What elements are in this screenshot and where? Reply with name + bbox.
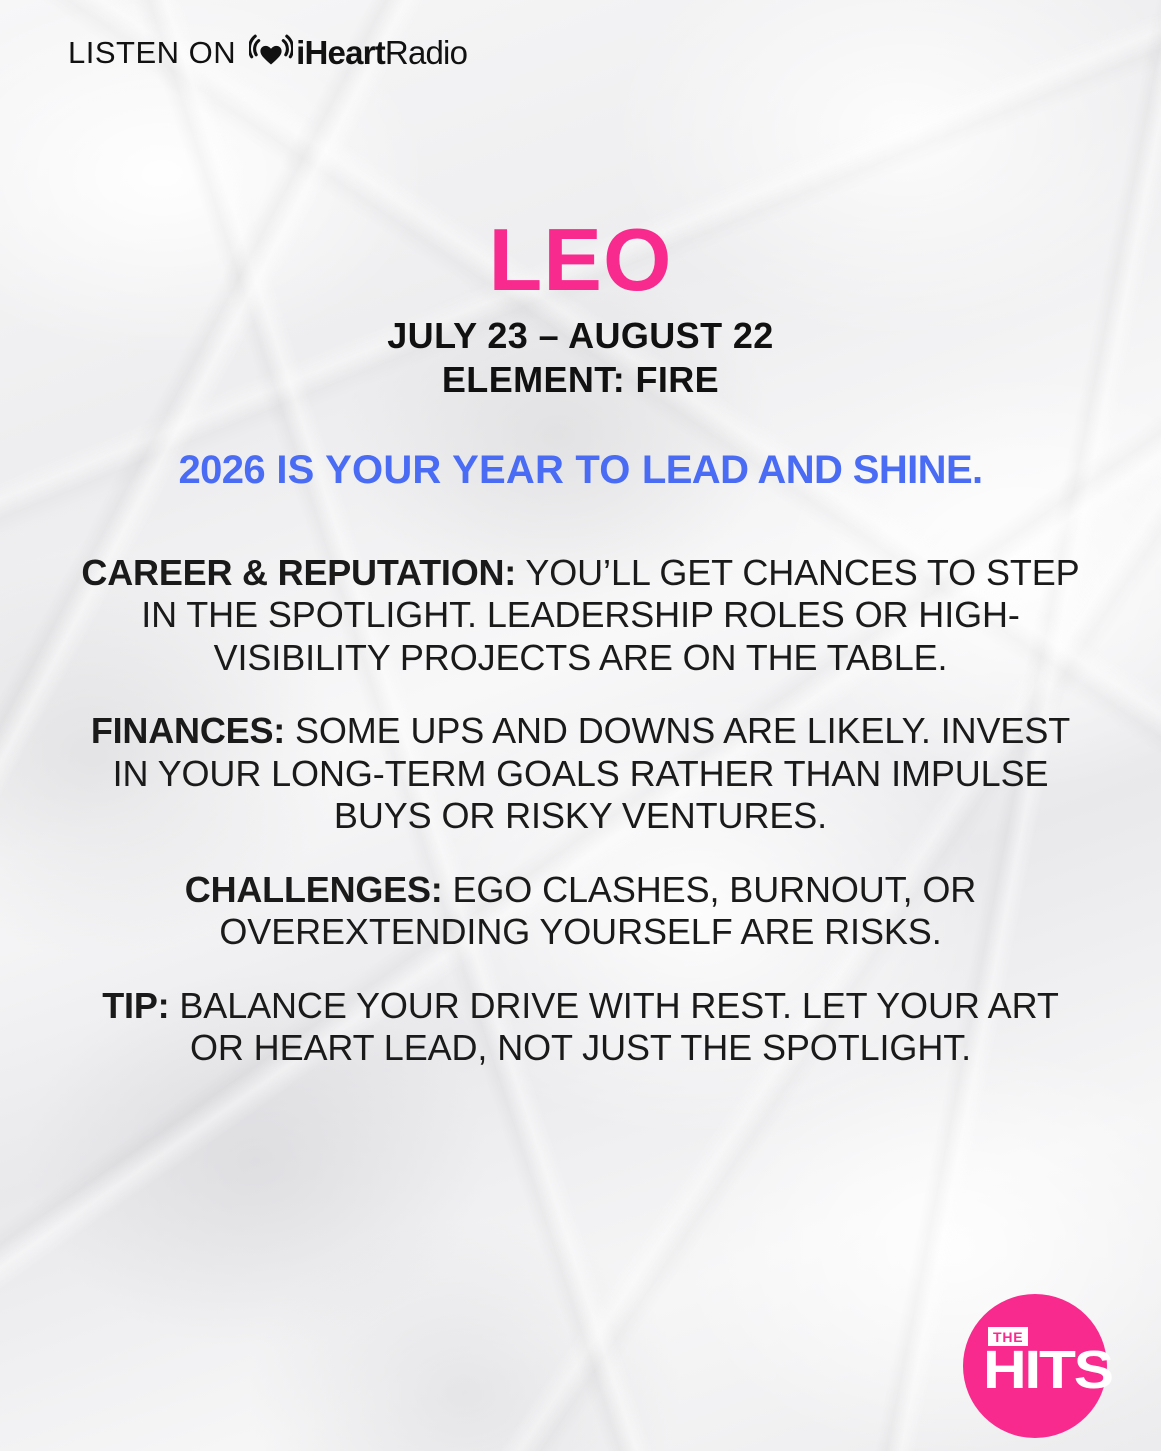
section-tip-body: BALANCE YOUR DRIVE WITH REST. LET YOUR A… (169, 985, 1058, 1068)
tagline-middle: IS YOUR YEAR TO (265, 448, 642, 492)
section-challenges-label: CHALLENGES: (185, 869, 443, 910)
the-hits-logo: THE HITS (963, 1294, 1107, 1438)
iheart-bold-text: iHeart (296, 34, 385, 71)
horoscope-sections: CAREER & REPUTATION: YOU’LL GET CHANCES … (80, 552, 1081, 1070)
iheart-logo-icon (249, 33, 293, 72)
tagline-year: 2026 (178, 448, 265, 492)
section-career: CAREER & REPUTATION: YOU’LL GET CHANCES … (80, 552, 1081, 679)
iheartradio-logo: iHeartRadio (249, 33, 467, 72)
radio-light-text: Radio (385, 34, 467, 71)
section-career-label: CAREER & REPUTATION: (81, 552, 516, 593)
section-tip: TIP: BALANCE YOUR DRIVE WITH REST. LET Y… (80, 985, 1081, 1070)
listen-on-label: LISTEN ON (68, 35, 236, 71)
poster-content: LISTEN ON iHeartRadio LEO JULY 23 – AUGU… (0, 0, 1161, 1451)
zodiac-sign-block: LEO JULY 23 – AUGUST 22 ELEMENT: FIRE (0, 218, 1161, 401)
section-finances-label: FINANCES: (91, 710, 285, 751)
iheartradio-wordmark: iHeartRadio (296, 34, 467, 72)
year-tagline: 2026 IS YOUR YEAR TO LEAD AND SHINE. (0, 447, 1161, 493)
the-hits-hits-text: HITS (983, 1343, 1099, 1397)
listen-on-header: LISTEN ON iHeartRadio (68, 33, 467, 72)
zodiac-sign-name: LEO (0, 218, 1161, 302)
section-tip-label: TIP: (102, 985, 169, 1026)
zodiac-element: ELEMENT: FIRE (0, 358, 1161, 402)
section-finances: FINANCES: SOME UPS AND DOWNS ARE LIKELY.… (80, 710, 1081, 837)
the-hits-logo-inner: THE HITS (983, 1327, 1087, 1405)
tagline-emphasis: LEAD AND SHINE. (642, 448, 983, 492)
section-challenges: CHALLENGES: EGO CLASHES, BURNOUT, OR OVE… (80, 869, 1081, 954)
zodiac-date-range: JULY 23 – AUGUST 22 (0, 314, 1161, 358)
